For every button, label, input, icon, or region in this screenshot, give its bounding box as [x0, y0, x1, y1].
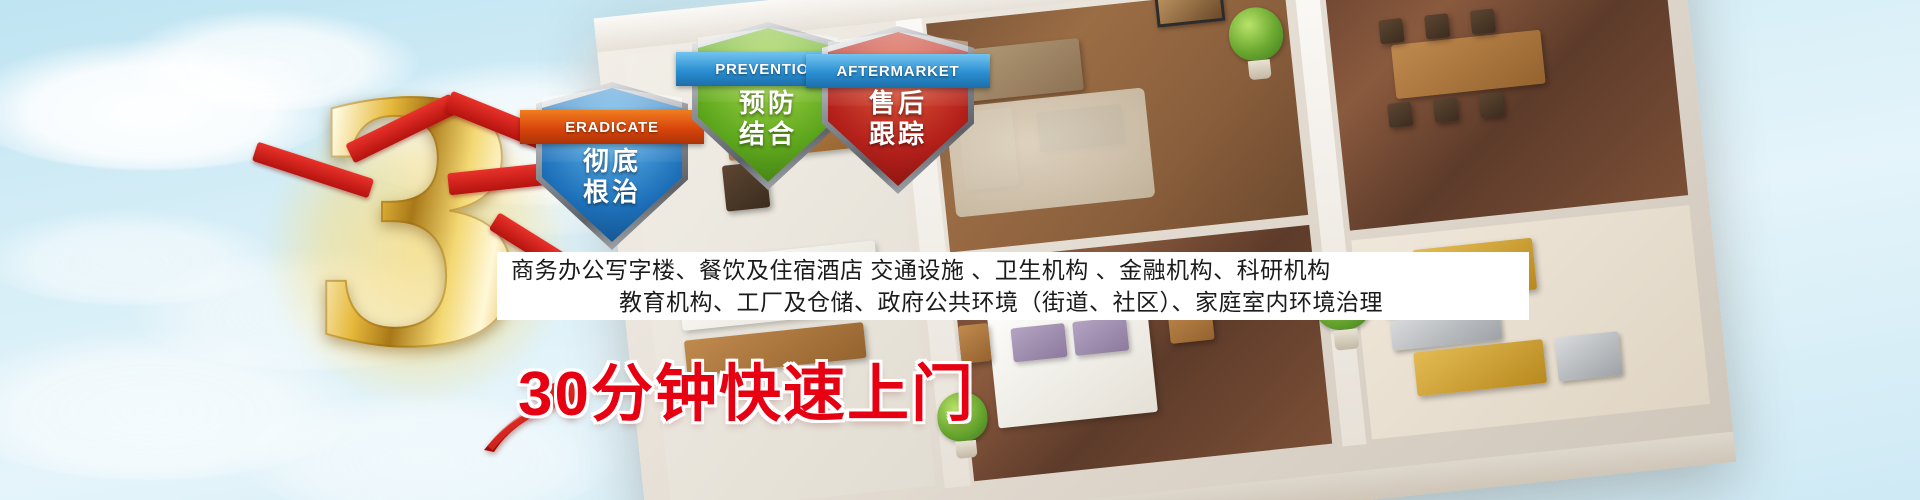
dining-chair [1378, 18, 1404, 44]
dining-chair [1433, 97, 1459, 123]
promo-banner: 3 ERADICATE 彻底 根治 [0, 0, 1920, 500]
dining-chair [1470, 8, 1496, 34]
badge-chinese-label: 售后 跟踪 [822, 88, 974, 150]
potted-plant [1226, 5, 1287, 82]
pillow [1072, 317, 1129, 356]
badge-aftermarket[interactable]: AFTERMARKET 售后 跟踪 [822, 26, 974, 194]
headline-text: 30分钟快速上门 [518, 343, 975, 433]
badge-chinese-line1: 售后 [822, 88, 974, 119]
badge-chinese-line2: 根治 [536, 177, 688, 208]
badge-chinese-line2: 跟踪 [822, 119, 974, 150]
badge-english-label: AFTERMARKET [806, 54, 990, 88]
pillow [1010, 323, 1067, 362]
area-rug [945, 87, 1155, 217]
dining-chair [1424, 13, 1450, 39]
badge-chinese-label: 彻底 根治 [536, 146, 688, 208]
badge-english-label: ERADICATE [520, 110, 704, 144]
service-scope-panel: 商务办公写字楼、餐饮及住宿酒店 交通设施 、卫生机构 、金融机构、科研机构 教育… [497, 252, 1529, 320]
dining-chair [1479, 92, 1505, 118]
service-scope-line-1: 商务办公写字楼、餐饮及住宿酒店 交通设施 、卫生机构 、金融机构、科研机构 [497, 254, 1529, 286]
sink [1554, 331, 1622, 381]
badge-chinese-line1: 彻底 [536, 146, 688, 177]
dining-chair [1387, 102, 1413, 128]
service-scope-line-2: 教育机构、工厂及仓储、政府公共环境（街道、社区）、家庭室内环境治理 [497, 286, 1529, 318]
badge-eradicate[interactable]: ERADICATE 彻底 根治 [536, 82, 688, 250]
